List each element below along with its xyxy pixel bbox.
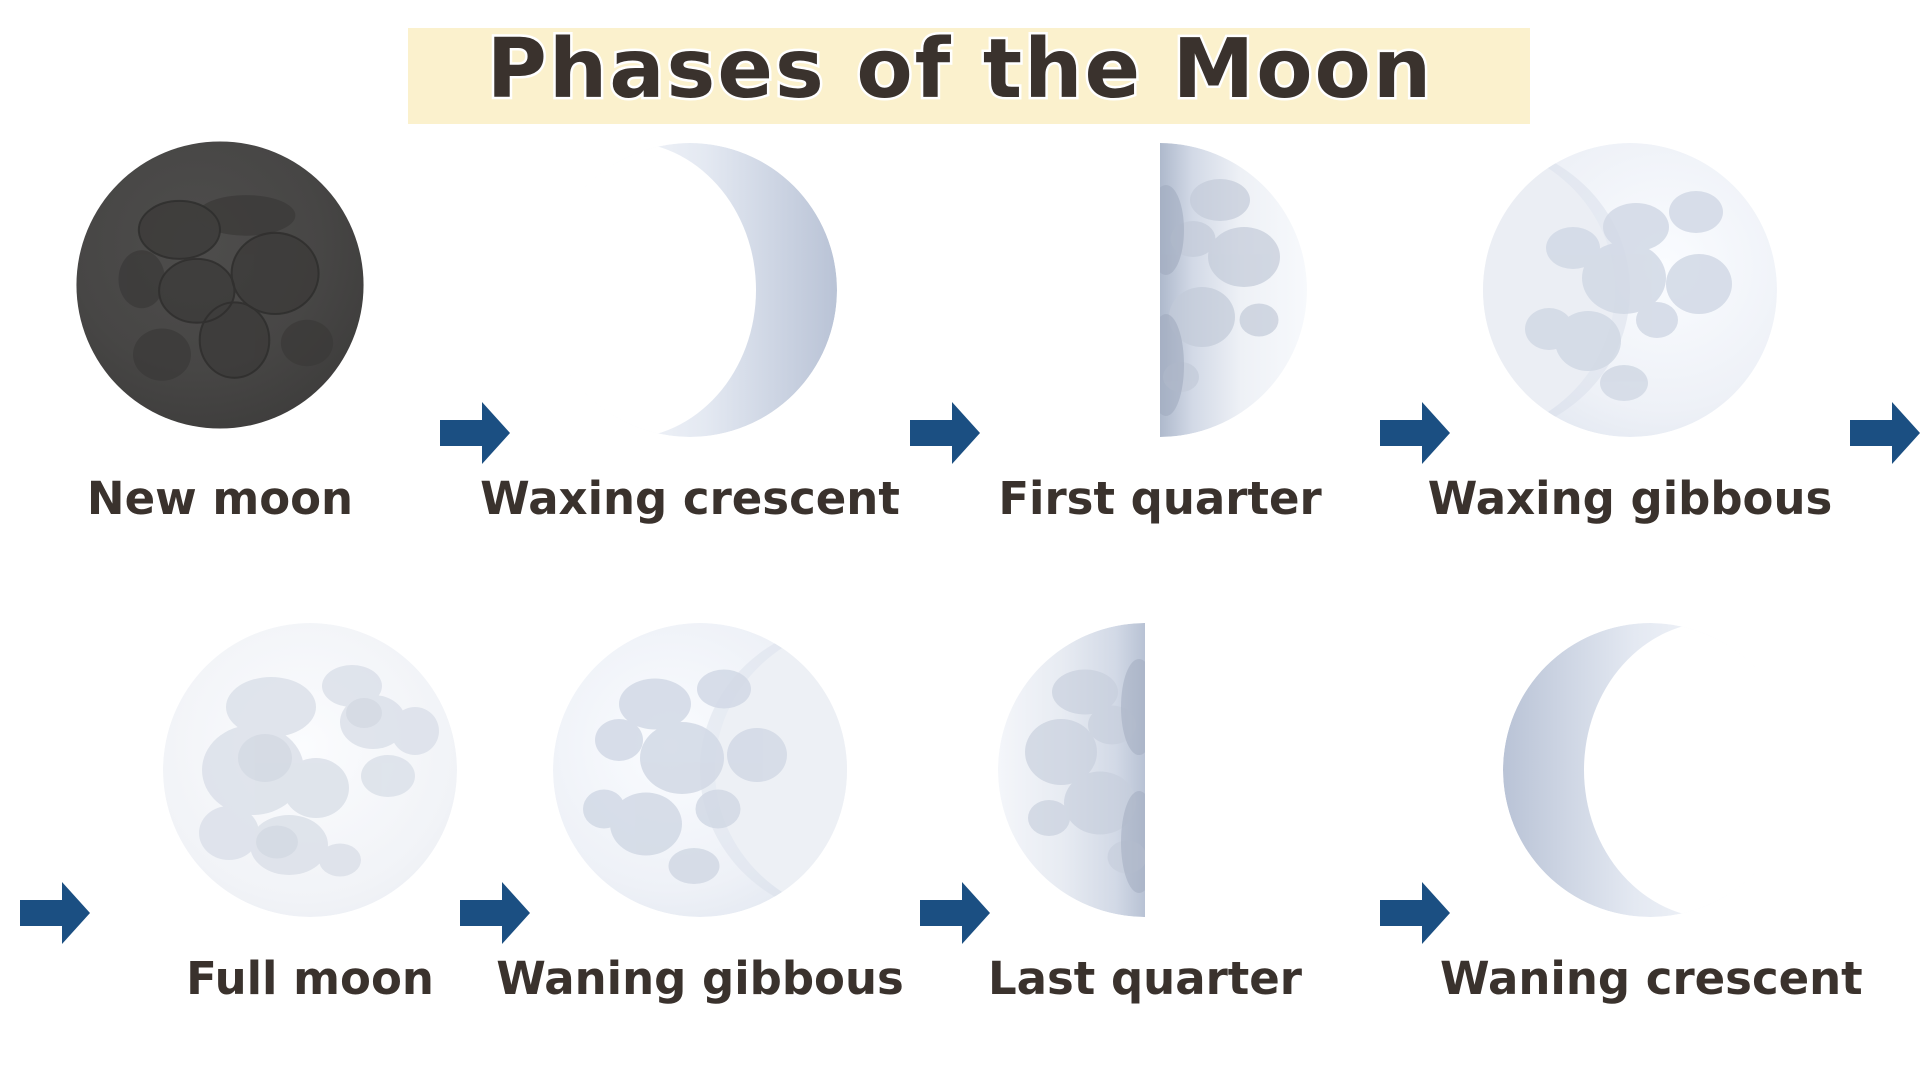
waxing-gibbous-icon [1480,140,1780,440]
phase-cell-waxing-crescent[interactable]: Waxing crescent [480,140,900,570]
moon-stage [100,620,520,950]
moon-stage [10,140,430,470]
waning-gibbous-icon [550,620,850,920]
right-arrow-icon [18,880,92,946]
phase-cell-waning-crescent[interactable]: Waning crescent [1440,620,1860,1050]
phase-label: First quarter [950,472,1370,525]
phase-cell-last-quarter[interactable]: Last quarter [935,620,1355,1050]
waxing-crescent-icon [540,140,840,440]
phase-label: Waning gibbous [490,952,910,1005]
title-block: Phases of the Moon [0,10,1920,125]
right-arrow-icon [1848,400,1920,466]
phase-cell-new-moon[interactable]: New moon [10,140,430,570]
phase-label: Full moon [100,952,520,1005]
waning-crescent-icon [1500,620,1800,920]
phase-cell-first-quarter[interactable]: First quarter [950,140,1370,570]
phase-cell-full-moon[interactable]: Full moon [100,620,520,1050]
phase-label: Last quarter [935,952,1355,1005]
phase-cell-waning-gibbous[interactable]: Waning gibbous [490,620,910,1050]
moon-stage [935,620,1355,950]
phase-label: Waxing gibbous [1420,472,1840,525]
moon-stage [480,140,900,470]
first-quarter-icon [1010,140,1310,440]
phase-row-bottom: Full moon [0,620,1920,1050]
moon-stage [950,140,1370,470]
phase-label: New moon [10,472,430,525]
moon-stage [490,620,910,950]
full-moon-icon [160,620,460,920]
phase-row-top: New moon Waxing cres [0,140,1920,570]
page-title: Phases of the Moon [0,22,1920,117]
phase-cell-waxing-gibbous[interactable]: Waxing gibbous [1420,140,1840,570]
phase-label: Waning crescent [1440,952,1860,1005]
moon-stage [1420,140,1840,470]
moon-stage [1440,620,1860,950]
new-moon-icon [75,140,365,430]
phase-label: Waxing crescent [480,472,900,525]
last-quarter-icon [995,620,1295,920]
